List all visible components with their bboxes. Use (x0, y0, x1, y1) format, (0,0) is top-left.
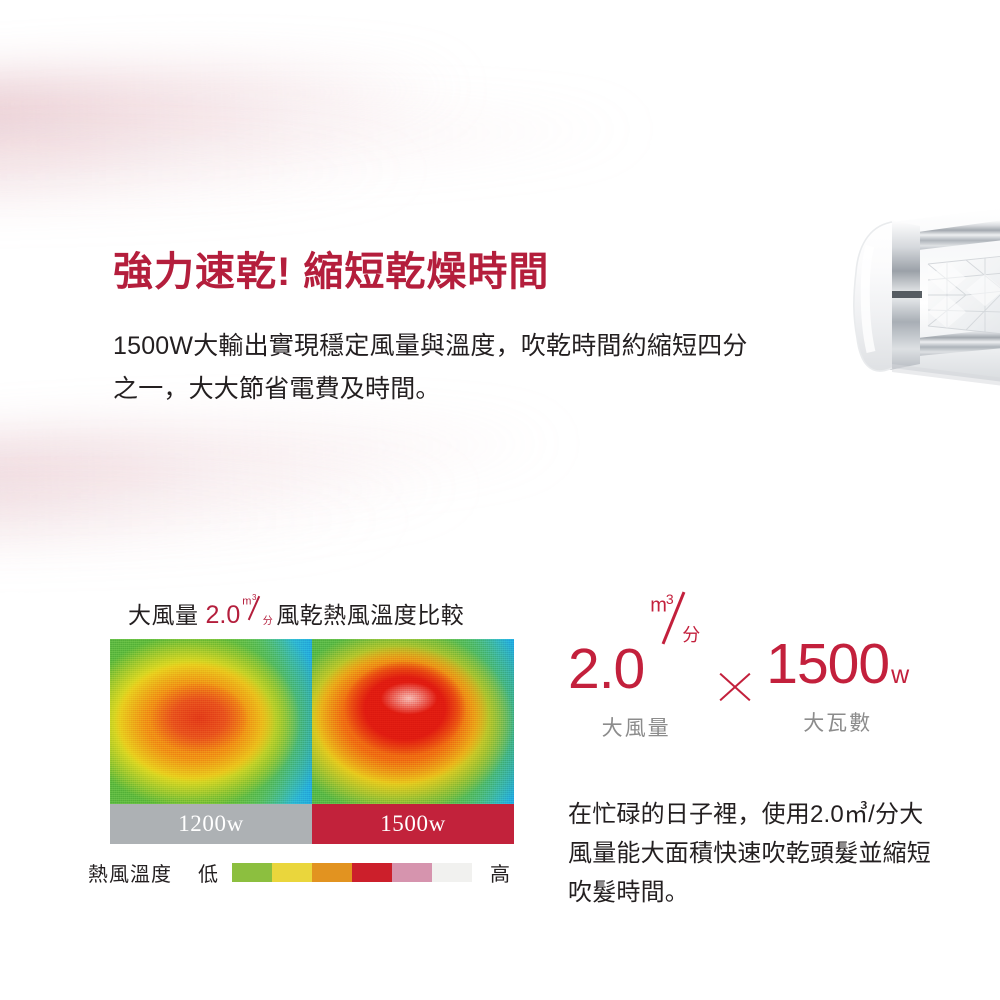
spec-wattage-unit: w (891, 663, 909, 688)
spec-block: 2.0 m3 分 大風量 1500 w 大瓦數 (568, 636, 948, 742)
thermal-noise-texture (110, 639, 312, 804)
airflow-streak (0, 109, 640, 168)
legend-low-label: 低 (198, 858, 218, 887)
heatmap-panel-1200w (110, 639, 312, 804)
spec-wattage: 1500 w 大瓦數 (766, 636, 909, 737)
spec-wattage-label: 大瓦數 (766, 707, 909, 737)
legend-swatch-white (432, 863, 472, 882)
legend-swatch-orange (312, 863, 352, 882)
legend-swatch-green (232, 863, 272, 882)
thermal-noise-texture (312, 639, 514, 804)
temperature-legend: 熱風溫度 低 高 (88, 858, 510, 887)
spec-airflow: 2.0 m3 分 大風量 (568, 636, 704, 742)
heatmap-panel-1500w (312, 639, 514, 804)
cubic-meter-per-minute-unit-icon: m3 分 (242, 600, 272, 624)
heatmap-caption-prefix: 大風量 (128, 596, 199, 630)
page-body-text: 1500W大輸出實現穩定風量與溫度，吹乾時間約縮短四分之一，大大節省電費及時間。 (113, 325, 753, 411)
heatmap-label-1500w: 1500w (312, 804, 514, 844)
unit-exponent: 3 (666, 591, 673, 607)
unit-denominator: 分 (263, 617, 274, 627)
cubic-meter-per-minute-unit-icon: m3 分 (648, 638, 704, 690)
hair-dryer-product-image (742, 186, 1000, 422)
promo-page: 強力速乾! 縮短乾燥時間 1500W大輸出實現穩定風量與溫度，吹乾時間約縮短四分… (0, 0, 1000, 1000)
unit-numerator: m (650, 595, 666, 617)
heatmap-comparison-images (110, 639, 514, 804)
legend-color-swatches (232, 863, 472, 882)
heatmap-caption-value: 2.0 (206, 601, 241, 630)
legend-swatch-red (352, 863, 392, 882)
heatmap-label-bars: 1200w 1500w (110, 804, 514, 844)
airflow-streak (0, 467, 470, 520)
airflow-streak (0, 504, 410, 542)
spec-description-text: 在忙碌的日子裡，使用2.0㎥/分大風量能大面積快速吹乾頭髮並縮短吹髮時間。 (568, 796, 940, 913)
unit-numerator: m (242, 596, 252, 608)
legend-swatch-yellow (272, 863, 312, 882)
heatmap-caption: 大風量 2.0 m3 分 風乾熱風溫度比較 (128, 596, 464, 630)
airflow-streak (0, 60, 461, 138)
legend-title: 熱風溫度 (88, 858, 172, 887)
unit-denominator: 分 (682, 626, 699, 644)
spec-wattage-value: 1500 (766, 636, 889, 693)
spec-airflow-label: 大風量 (568, 712, 704, 742)
page-headline: 強力速乾! 縮短乾燥時間 (113, 249, 549, 295)
spec-airflow-value: 2.0 (568, 641, 644, 698)
airflow-streak (0, 153, 420, 197)
legend-swatch-pink (392, 863, 432, 882)
multiply-icon (704, 656, 766, 718)
heatmap-label-1200w: 1200w (110, 804, 312, 844)
airflow-streak (0, 419, 561, 487)
heatmap-caption-suffix: 風乾熱風溫度比較 (276, 596, 464, 630)
legend-high-label: 高 (490, 858, 510, 887)
